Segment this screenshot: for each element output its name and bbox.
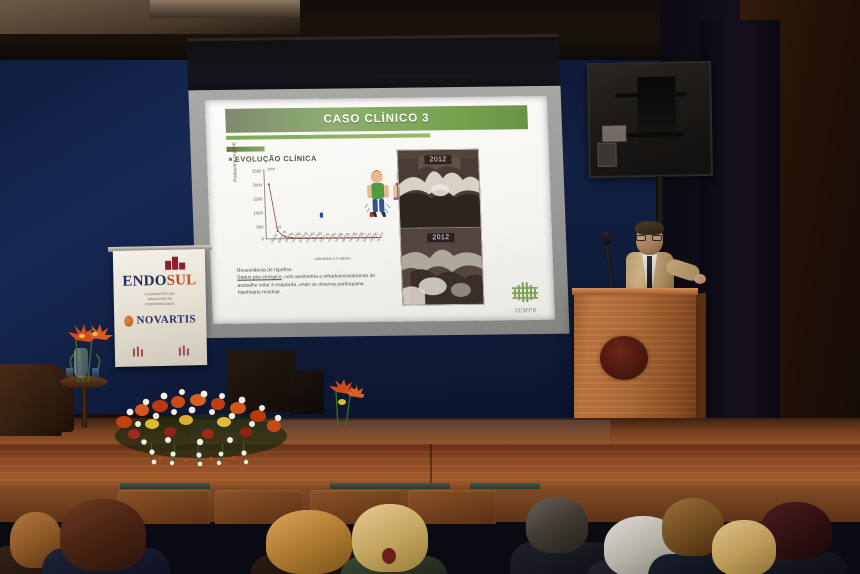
banner-subtitle: XII ENCONTRO SUL BRASILEIRO DE ENDOCRINO… xyxy=(114,291,206,307)
ceiling-panel-inner xyxy=(150,0,300,18)
monitor-bracket xyxy=(637,77,677,151)
seat-trim xyxy=(120,483,210,489)
page-title: CASO CLÍNICO 3 xyxy=(323,112,429,125)
banner-subtitle-line: ENDOCRINOLOGIA xyxy=(145,301,174,306)
mri-image-panel: 2012 2012 xyxy=(397,149,485,306)
attendee-head xyxy=(60,499,146,571)
podium-emblem xyxy=(600,336,648,380)
y-tick: 1000 xyxy=(241,210,263,215)
chart-y-ticks: 2500 2000 1500 1000 500 0 xyxy=(237,169,264,239)
flat-screen-monitor xyxy=(587,61,713,178)
paragraph-underlined: Status pós-cirúrgico xyxy=(237,276,281,282)
mri-year-label-top: 2012 xyxy=(424,155,452,164)
attendee-head xyxy=(712,520,776,574)
seat-trim xyxy=(470,483,540,489)
monitor-connector-box xyxy=(598,142,618,167)
potted-flowers-right xyxy=(318,376,364,426)
sempr-logo: SEMPR xyxy=(506,282,545,314)
presenter-hand xyxy=(694,274,706,284)
chart-point-label: 2050 xyxy=(267,167,275,171)
slide-section-label: EVOLUÇÃO CLÍNICA xyxy=(235,154,317,164)
floral-arrangement xyxy=(112,376,290,466)
banner-brand: ENDOSUL xyxy=(113,271,205,291)
y-tick: 1500 xyxy=(240,196,262,201)
sempr-mark-icon xyxy=(512,282,539,302)
banner-footer-logos xyxy=(115,343,207,359)
podium-top-surface xyxy=(572,288,698,295)
slide-title-underline xyxy=(226,133,430,139)
potted-flowers-left xyxy=(62,320,118,382)
banner-brand-part2: SUL xyxy=(166,272,196,289)
side-table-leg xyxy=(82,386,87,428)
novartis-flame-icon xyxy=(124,315,133,326)
mri-year-label-bottom: 2012 xyxy=(427,233,455,242)
presentation-slide: CASO CLÍNICO 3 EVOLUÇÃO CLÍNICA Prolacti… xyxy=(205,96,555,324)
slide-title-bar: CASO CLÍNICO 3 xyxy=(225,105,528,133)
seat-trim xyxy=(330,483,450,489)
banner-sponsor: NOVARTIS xyxy=(114,313,206,327)
audience xyxy=(0,486,860,574)
banner-event-logo-icon xyxy=(165,255,195,270)
presenter-hair xyxy=(635,221,664,235)
y-tick: 500 xyxy=(241,224,263,229)
chart-point-label: 95 xyxy=(283,231,287,235)
microphone-icon xyxy=(602,232,611,245)
attendee-head xyxy=(266,510,352,574)
stage-curtain xyxy=(700,20,780,460)
hair-clip xyxy=(382,548,396,564)
sempr-logo-text: SEMPR xyxy=(507,307,545,314)
endosul-banner: ENDOSUL XII ENCONTRO SUL BRASILEIRO DE E… xyxy=(113,249,207,367)
footer-logo-icon xyxy=(131,344,145,358)
eyeglasses-icon xyxy=(636,235,662,241)
presenter-tie xyxy=(647,256,652,290)
mri-image-top: 2012 xyxy=(398,150,481,228)
attendee-head xyxy=(526,497,588,553)
mri-image-bottom: 2012 xyxy=(401,227,484,304)
monitor-label-plate xyxy=(602,125,626,141)
banner-subtitle-line: BRASILEIRO DE xyxy=(148,297,173,302)
slide-section-bullet: EVOLUÇÃO CLÍNICA xyxy=(229,154,317,164)
paragraph-heading: Ressonância de hipófise: xyxy=(237,268,293,274)
chart-x-axis-label: cabergolina 0,5 mg/sem xyxy=(315,256,351,260)
y-tick: 2500 xyxy=(239,168,261,173)
y-tick: 2000 xyxy=(240,182,262,187)
banner-sponsor-name: NOVARTIS xyxy=(136,313,196,326)
blue-arrow-icon xyxy=(319,213,324,218)
auditorium-scene: CASO CLÍNICO 3 EVOLUÇÃO CLÍNICA Prolacti… xyxy=(0,0,860,574)
footer-logo-icon xyxy=(177,343,191,357)
projection-screen: CASO CLÍNICO 3 EVOLUÇÃO CLÍNICA Prolacti… xyxy=(186,34,569,338)
slide-body-text: Ressonância de hipófise: Status pós-cirú… xyxy=(237,266,386,298)
y-tick: 0 xyxy=(242,236,264,241)
chart-point-label: 310 xyxy=(275,225,281,229)
banner-brand-part1: ENDO xyxy=(122,273,166,290)
